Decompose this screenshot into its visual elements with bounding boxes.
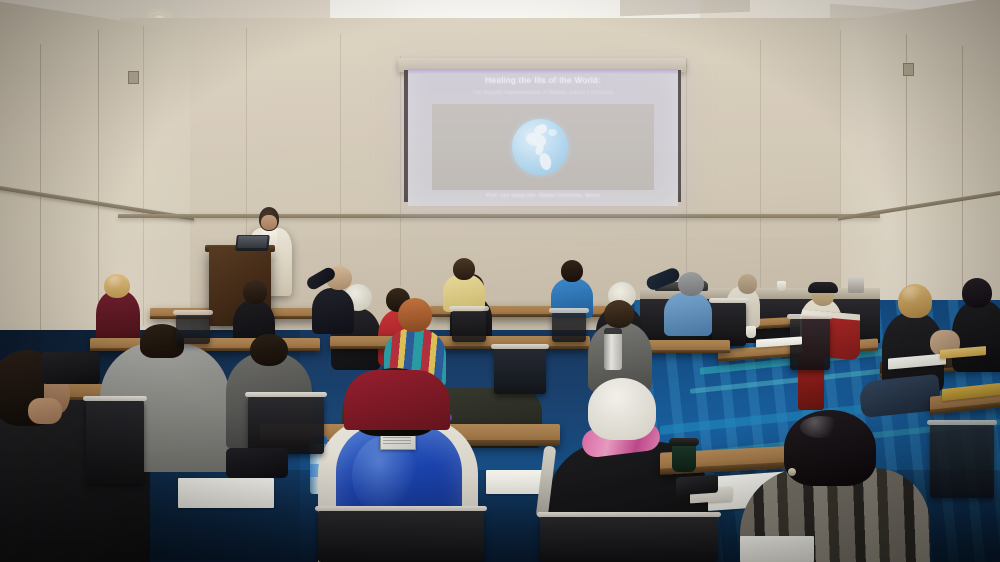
wall-panel-seam	[143, 26, 144, 326]
coffee-cup-lid	[669, 438, 699, 446]
globe-icon	[512, 119, 568, 175]
wall-panel-seam	[400, 56, 401, 286]
coffee-cup	[777, 281, 786, 291]
phone-device	[676, 475, 718, 496]
wall-panel-seam	[246, 28, 247, 258]
chair	[494, 348, 546, 394]
chair	[318, 510, 484, 562]
slide-title: Healing the Ills of the World:	[408, 76, 678, 85]
slide-subtitle: The Societal Implementation of Dadaist J…	[408, 90, 678, 96]
chair	[176, 314, 210, 344]
conference-room-photo: Healing the Ills of the World: The Socie…	[0, 0, 1000, 562]
slide-footer: Prof. Lee Sang-min, Global University, S…	[408, 193, 678, 199]
wall-panel-seam	[840, 30, 841, 290]
wall-chair-rail-back	[118, 214, 880, 218]
wall-panel-seam	[760, 40, 761, 290]
bag-on-floor	[42, 352, 100, 384]
paper-handout	[178, 478, 274, 508]
chair	[452, 310, 486, 342]
thermos	[604, 330, 622, 370]
chair	[248, 396, 324, 454]
chair	[540, 516, 718, 562]
wall-panel-seam	[686, 58, 687, 283]
laptop-screen	[237, 236, 267, 248]
coffee-cup	[672, 442, 696, 472]
chair	[930, 424, 994, 498]
projector-glow	[408, 69, 678, 74]
coffee-cup	[746, 326, 756, 338]
bag-on-floor	[226, 448, 288, 478]
coffee-urn	[848, 276, 864, 293]
chair	[552, 312, 586, 342]
wall-outlet	[128, 71, 139, 84]
presenter-face	[261, 215, 277, 230]
wall-panel-seam	[340, 34, 341, 284]
wall-panel-seam	[98, 30, 99, 340]
hand	[28, 398, 62, 424]
thermos-lid	[604, 328, 622, 334]
black-cap-icon	[808, 282, 838, 293]
paper-handout	[486, 470, 546, 494]
earring	[788, 468, 796, 476]
paper-handout	[740, 536, 814, 562]
wall-outlet	[903, 63, 914, 76]
chair	[86, 400, 144, 484]
